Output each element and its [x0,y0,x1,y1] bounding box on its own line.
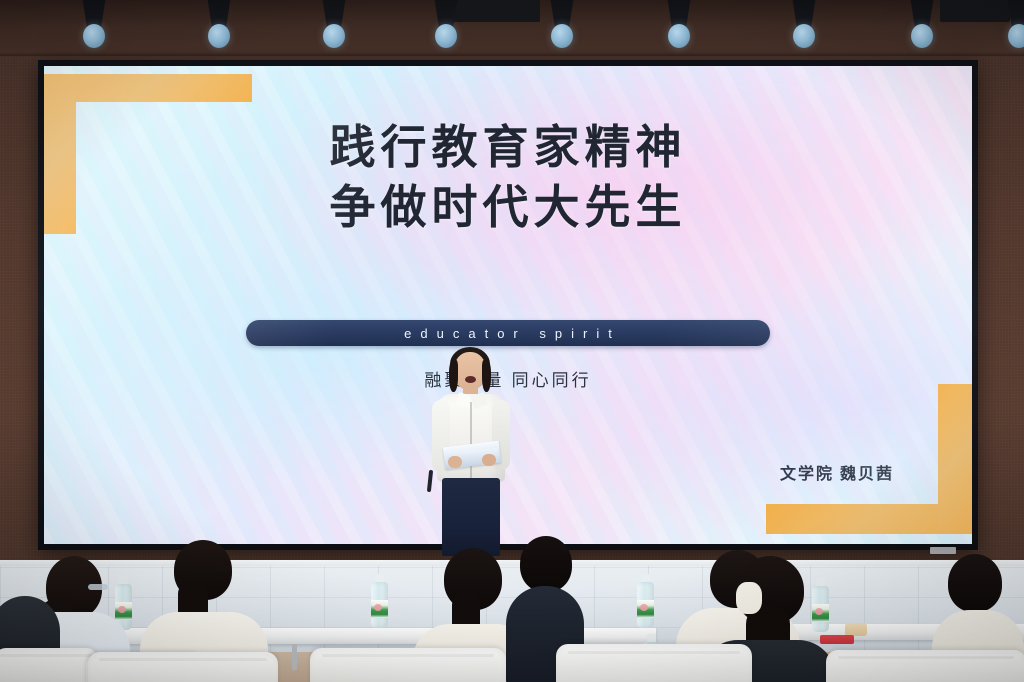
water-bottle-3 [637,574,654,628]
light-lens-icon [208,24,230,48]
stage-light-1 [80,0,108,48]
presenter-mouth [465,376,476,383]
light-lens-icon [551,24,573,48]
presenter-microphone-icon [427,470,433,492]
light-lens-icon [793,24,815,48]
stage-light-6 [665,0,693,48]
stage-light-5 [548,0,576,48]
light-lens-icon [323,24,345,48]
presenter-hair-right [482,360,491,392]
stage-light-2 [205,0,233,48]
chair-cover-6 [826,650,1024,682]
slide-author: 文学院 魏贝茜 [780,460,894,484]
slide-title: 践行教育家精神 争做时代大先生 [44,118,972,238]
chair-cover-5 [556,644,752,682]
chair-cover-4 [310,648,506,682]
bottle-label [371,600,388,618]
attendee-glasses-icon [88,584,108,590]
presenter-hand-left [448,456,462,468]
slide-title-line-1: 践行教育家精神 [44,118,972,178]
bottle-label [637,600,654,618]
presenter [424,352,516,560]
presenter-hair-left [449,360,458,392]
attendee-head [948,554,1002,612]
stage-light-3 [320,0,348,48]
ceiling-truss-box-right [940,0,1010,22]
table-leg [292,644,297,670]
stage-light-4 [432,0,460,48]
presenter-hand-right [482,454,496,466]
presenter-shirt-placket [470,402,472,478]
light-lens-icon [668,24,690,48]
ceiling [0,0,1024,58]
slide-title-line-2: 争做时代大先生 [44,178,972,238]
slide-corner-bracket-bottom-right-vertical [938,384,972,534]
photo-scene: 践行教育家精神 争做时代大先生 educator spirit 融聚力量 同心同… [0,0,1024,682]
stage-light-8 [908,0,936,48]
slide-banner-text: educator spirit [395,326,621,341]
stage-light-9 [1005,0,1024,48]
presenter-skirt [442,478,500,556]
slide-banner-bar: educator spirit [246,320,770,346]
screen-brand-badge [930,547,956,554]
water-bottle-2 [371,574,388,628]
chair-cover-3 [88,652,278,682]
attendee-hair-clip-icon [736,582,762,614]
light-lens-icon [911,24,933,48]
light-lens-icon [435,24,457,48]
stage-light-7 [790,0,818,48]
ceiling-truss-box-left [448,0,540,22]
chair-cover-1 [0,648,98,682]
attendee-head [520,536,572,592]
light-lens-icon [83,24,105,48]
light-lens-icon [1008,24,1024,48]
